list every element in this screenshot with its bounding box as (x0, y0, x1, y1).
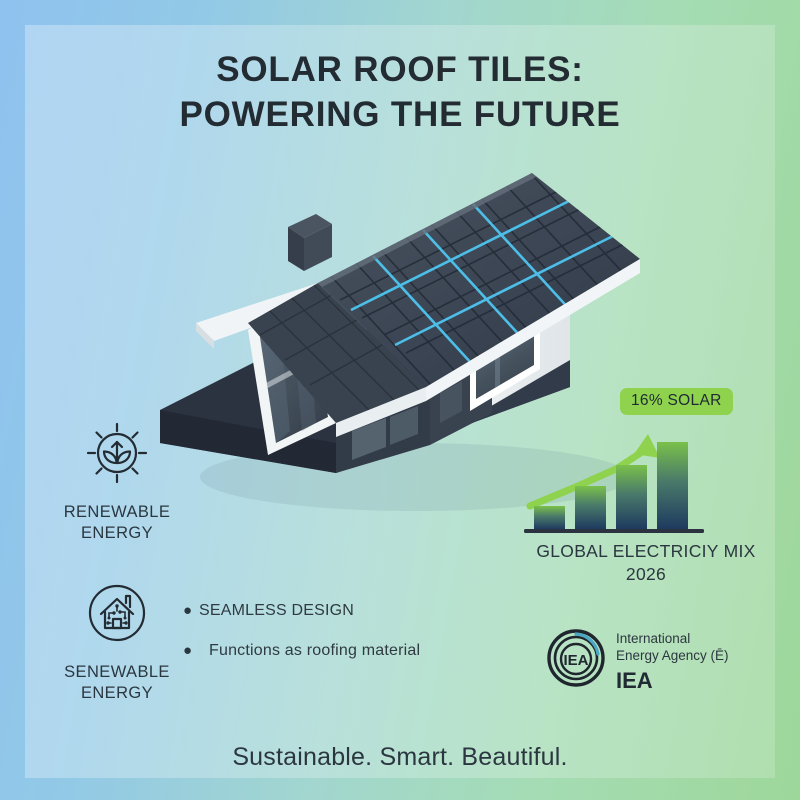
iea-text-block: International Energy Agency (Ē) IEA (606, 628, 729, 695)
bullet-text-2: Functions as roofing material (199, 642, 420, 660)
feature-smart-home-label-2: ENERGY (22, 683, 212, 704)
chimney (288, 214, 332, 271)
page-title: SOLAR ROOF TILES: POWERING THE FUTURE (0, 48, 800, 138)
feature-renewable-energy: RENEWABLE ENERGY (22, 418, 212, 544)
chart-bars (534, 442, 688, 529)
smart-home-circuit-icon (80, 578, 154, 652)
iea-acronym: IEA (616, 667, 729, 696)
infographic-poster: SOLAR ROOF TILES: POWERING THE FUTURE (0, 0, 800, 800)
iea-logo-block: IEA International Energy Agency (Ē) IEA (546, 628, 776, 695)
feature-renewable-label-1: RENEWABLE (22, 502, 212, 523)
feature-bullet-list: ● SEAMLESS DESIGN ● Functions as roofing… (183, 602, 493, 682)
bullet-dot-icon: ● (183, 603, 199, 618)
chart-axis-baseline (524, 529, 704, 533)
sun-leaf-icon (80, 418, 154, 492)
iea-name-line-2: Energy Agency (Ē) (616, 647, 729, 664)
chart-bar (534, 506, 565, 529)
iea-name-line-1: International (616, 630, 729, 647)
iea-logo-icon: IEA (546, 628, 606, 688)
iea-mark-label: IEA (563, 652, 588, 669)
status-badge: 16% SOLAR (620, 388, 733, 415)
bullet-dot-icon: ● (183, 643, 199, 658)
chart-bar (575, 486, 606, 529)
chart-bar (616, 465, 647, 529)
chart-title: GLOBAL ELECTRICIY MIX (512, 540, 780, 563)
bar-chart-graphic (520, 414, 720, 539)
chart-bar (657, 442, 688, 529)
list-item: ● SEAMLESS DESIGN (183, 602, 493, 620)
list-item: ● Functions as roofing material (183, 642, 493, 660)
tagline: Sustainable. Smart. Beautiful. (0, 743, 800, 772)
feature-renewable-label-2: ENERGY (22, 523, 212, 544)
chart-subtitle: 2026 (512, 563, 780, 586)
chart-caption: GLOBAL ELECTRICIY MIX 2026 (512, 540, 780, 586)
title-line-2: POWERING THE FUTURE (0, 93, 800, 138)
title-line-1: SOLAR ROOF TILES: (0, 48, 800, 93)
bullet-text-1: SEAMLESS DESIGN (199, 602, 354, 620)
